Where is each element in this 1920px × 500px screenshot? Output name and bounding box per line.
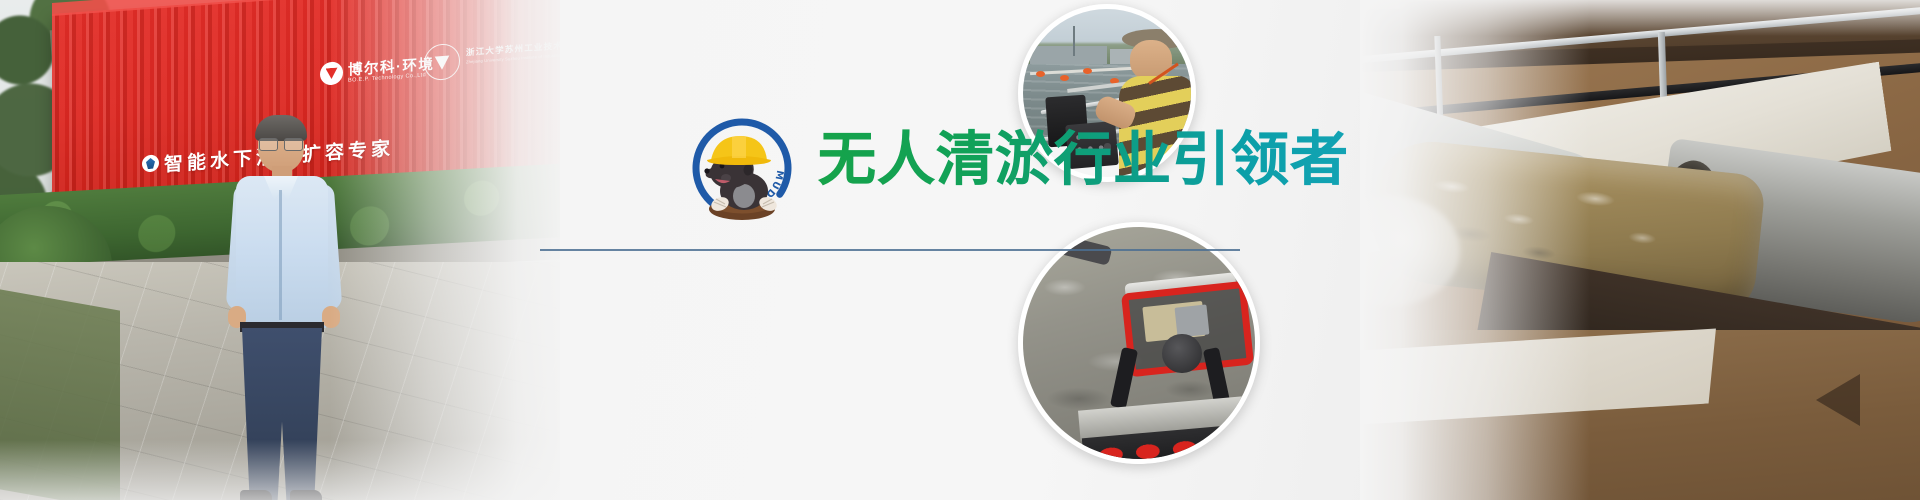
left-photo: 博尔科·环境 BO.E.P. Technology Co.,Ltd 浙江大学苏州… xyxy=(0,0,560,500)
center-content: MUD MOLE xyxy=(660,0,1280,500)
left-photo-fade xyxy=(330,0,560,500)
chevron-right-icon xyxy=(1816,374,1860,426)
right-photo-fade xyxy=(1360,0,1590,500)
banner-headline-text: 无人清淤行业引领者 xyxy=(818,128,1349,192)
person-shirt-placket xyxy=(279,190,282,320)
person-glasses xyxy=(258,138,304,149)
promo-banner: 博尔科·环境 BO.E.P. Technology Co.,Ltd 浙江大学苏州… xyxy=(0,0,1920,500)
headline-divider xyxy=(540,249,1240,251)
banner-headline: 无人清淤行业引领者 xyxy=(818,128,1349,192)
person-shirt xyxy=(236,176,328,328)
mud-mole-logo: MUD MOLE xyxy=(682,108,802,228)
right-photo xyxy=(1360,0,1920,500)
